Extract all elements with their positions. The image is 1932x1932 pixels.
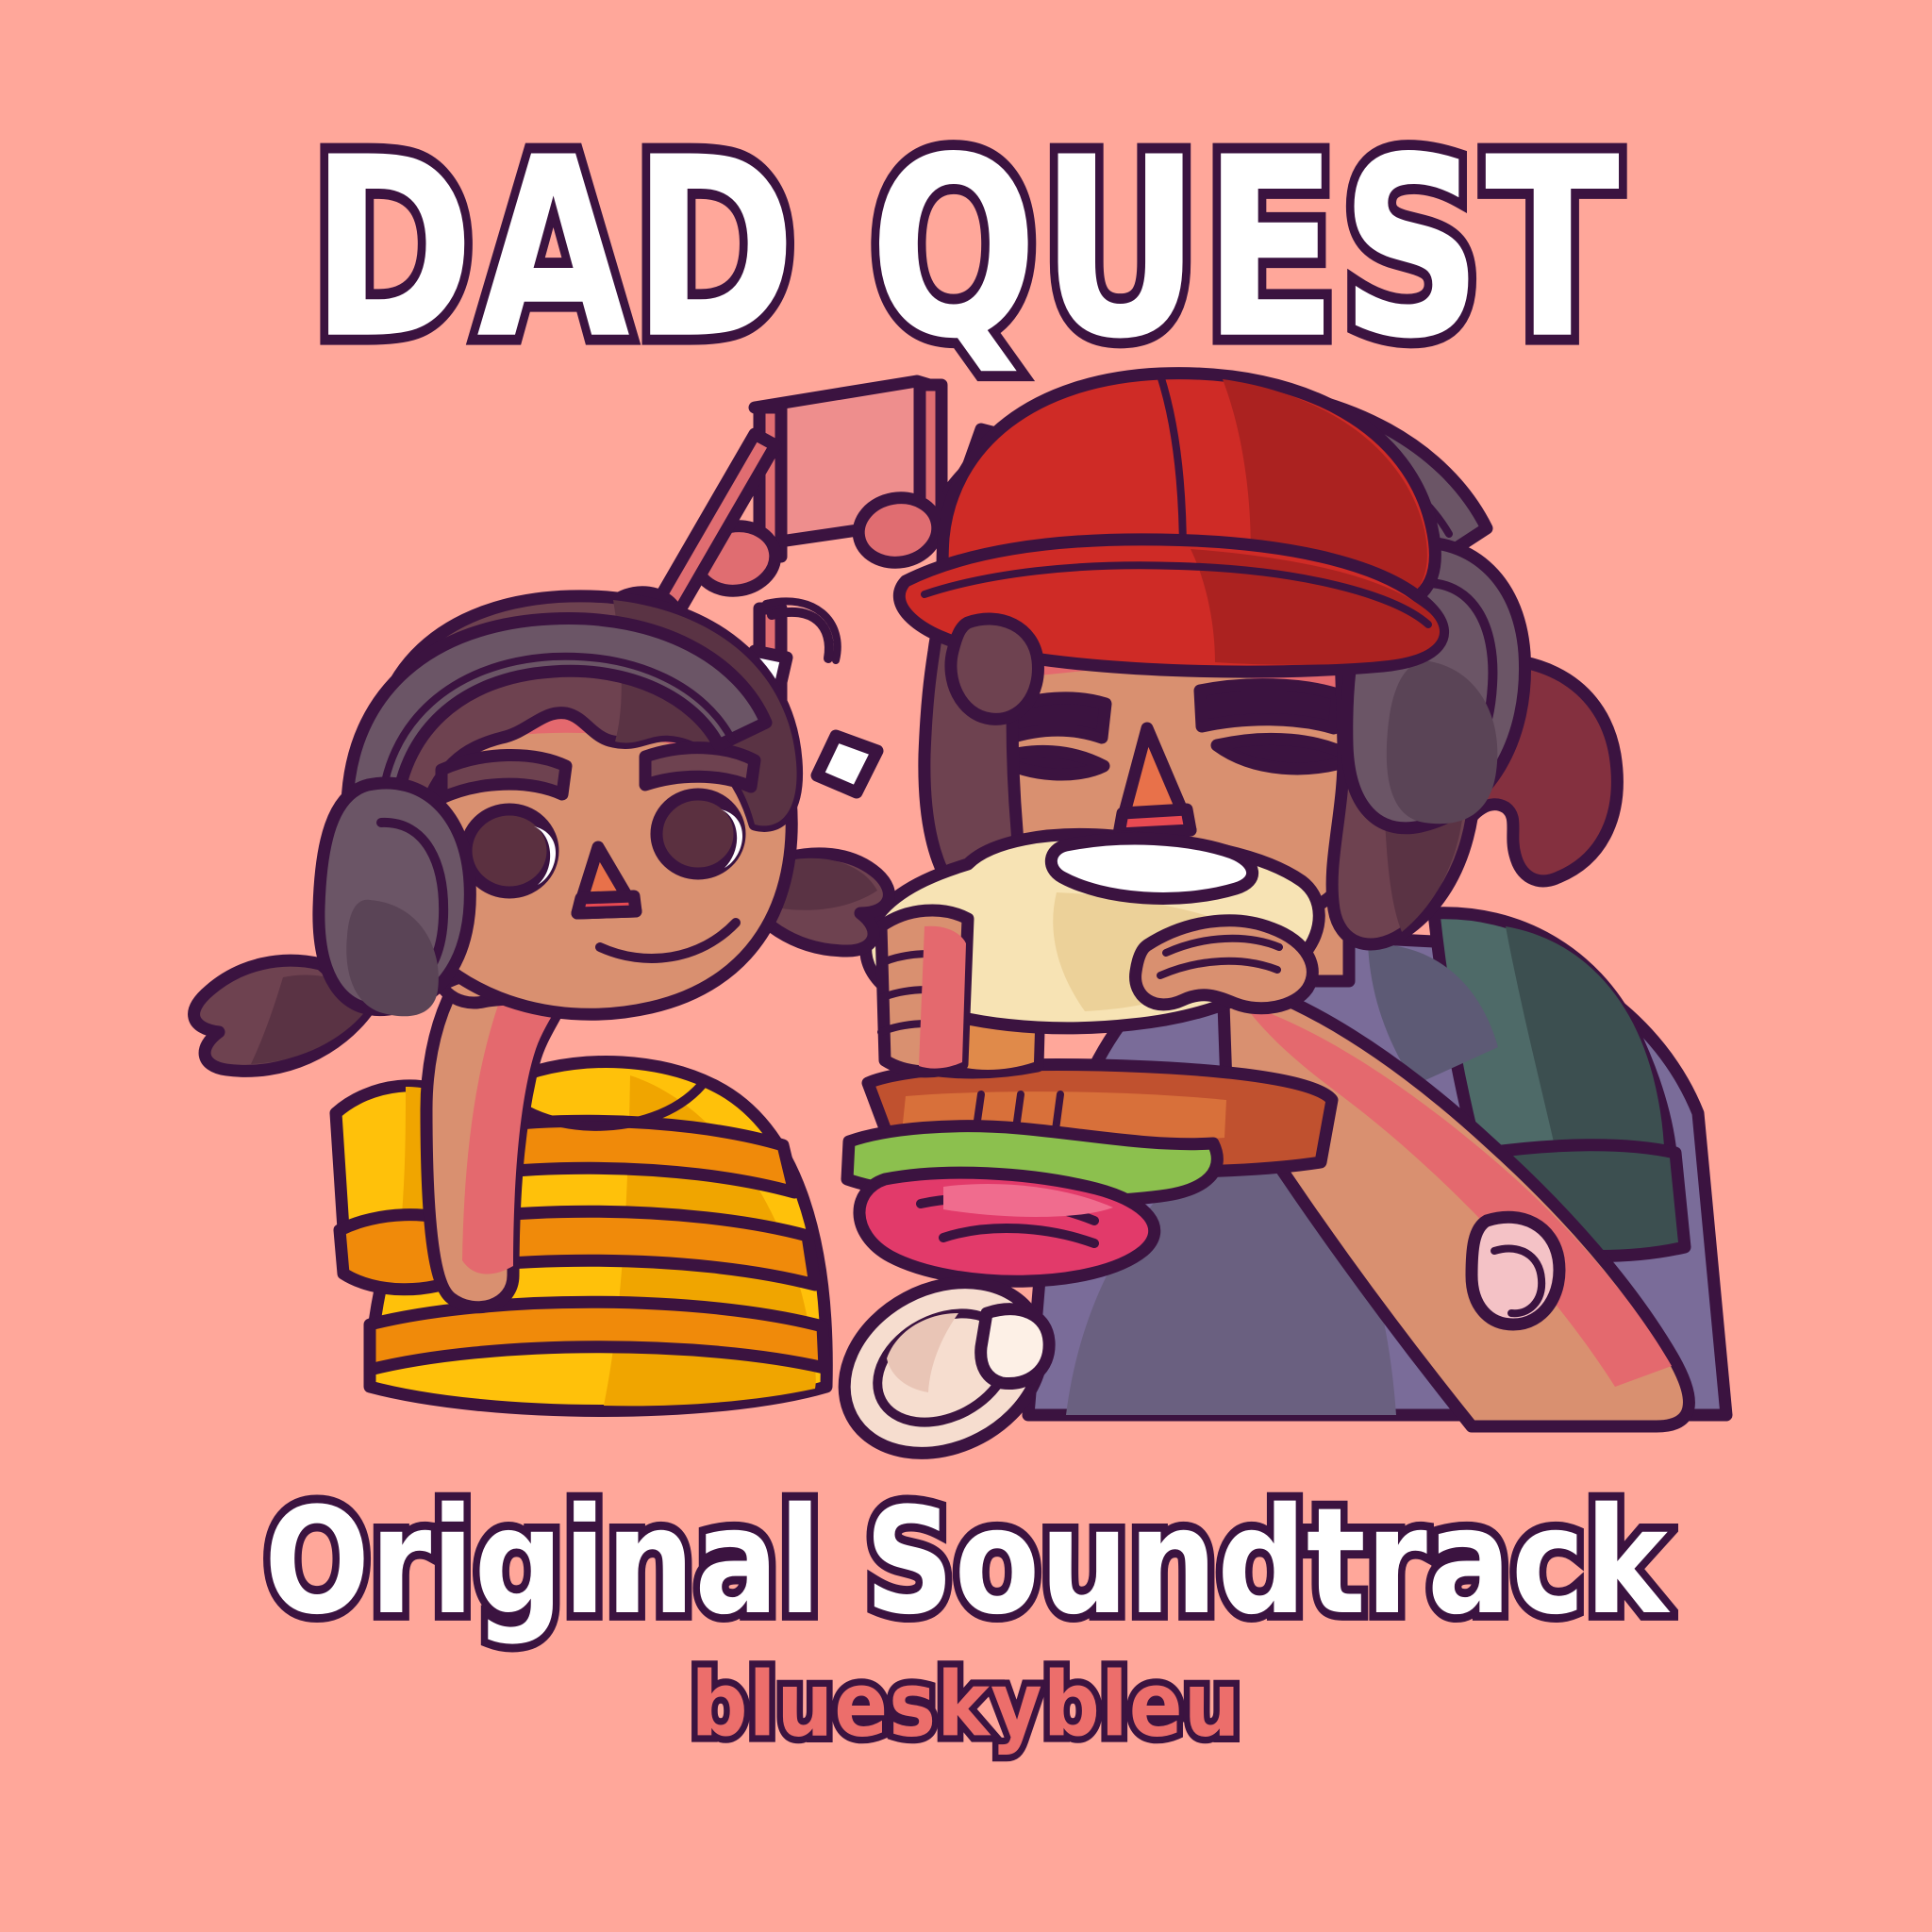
subtitle: Original Soundtrack [0, 1489, 1932, 1636]
album-cover: .o{stroke:#3b1340;stroke-width:13;stroke… [0, 0, 1932, 1932]
kid-nose-shadow [577, 896, 636, 913]
dad-teeth [1051, 839, 1252, 898]
kid-eye-left [466, 809, 553, 892]
kid-eye-right [657, 794, 740, 874]
dad-eyebrow-right [1200, 685, 1338, 728]
kid-eyebrow-right [645, 748, 755, 787]
dad-hair-tuft [951, 619, 1039, 719]
artist-credit: blueskybleu [0, 1660, 1932, 1749]
dad-mouth-hint [1119, 809, 1191, 834]
mug-handle [981, 1309, 1049, 1384]
page-title: DAD QUEST [0, 125, 1932, 374]
dad-thumb [1472, 1217, 1559, 1324]
